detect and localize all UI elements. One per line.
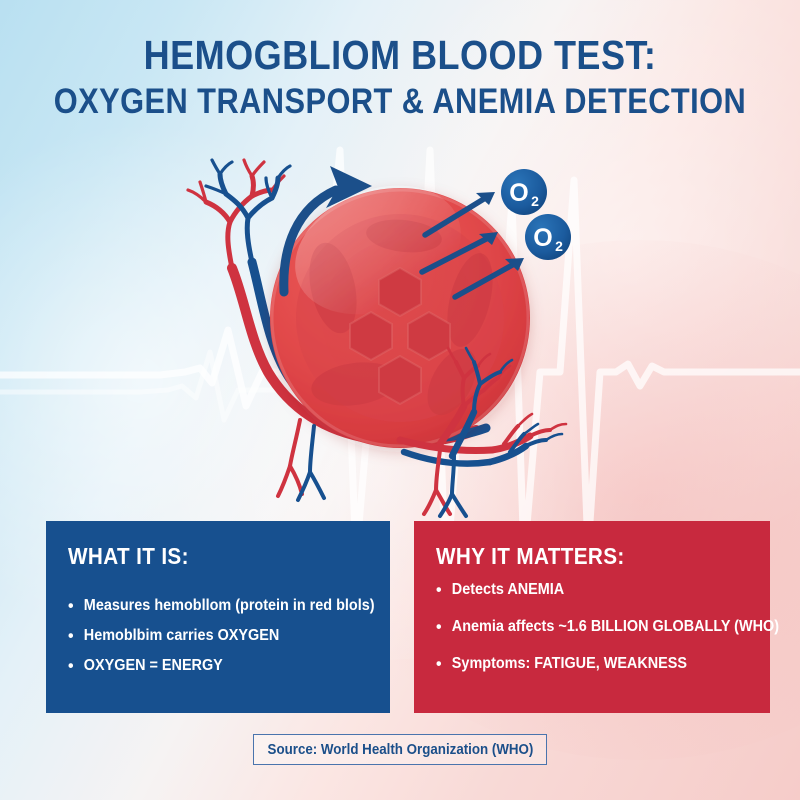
oxygen-molecule-1: O 2	[501, 169, 547, 215]
card-what-it-is-bullets: Measures hemobllom (protein in red blols…	[68, 596, 370, 677]
oxygen-label-2: O	[533, 224, 552, 252]
oxygen-subscript-1: 2	[531, 193, 539, 209]
list-item: Anemia affects ~1.6 BILLION GLOBALLY (WH…	[436, 617, 728, 638]
card-why-it-matters-heading: WHY IT MATTERS:	[436, 543, 719, 570]
title-line-1: HEMOGBLIOM BLOOD TEST:	[48, 34, 752, 77]
source-citation-text: Source: World Health Organization (WHO)	[267, 742, 533, 758]
list-item: Symptoms: FATIGUE, WEAKNESS	[436, 654, 728, 675]
poster-title: HEMOGBLIOM BLOOD TEST: OXYGEN TRANSPORT …	[0, 34, 800, 121]
card-why-it-matters: WHY IT MATTERS: Detects ANEMIA Anemia af…	[414, 521, 770, 713]
oxygen-label-1: O	[509, 179, 528, 207]
card-what-it-is-heading: WHAT IT IS:	[68, 543, 340, 570]
oxygen-subscript-2: 2	[555, 238, 563, 254]
oxygen-molecule-2: O 2	[525, 214, 571, 260]
source-citation-box: Source: World Health Organization (WHO)	[253, 734, 547, 765]
list-item: Hemoblbim carries OXYGEN	[68, 626, 349, 647]
list-item: OXYGEN = ENERGY	[68, 656, 349, 677]
card-why-it-matters-bullets: Detects ANEMIA Anemia affects ~1.6 BILLI…	[436, 580, 750, 675]
list-item: Detects ANEMIA	[436, 580, 728, 601]
title-line-2: OXYGEN TRANSPORT & ANEMIA DETECTION	[48, 84, 752, 121]
infographic-poster: HEMOGBLIOM BLOOD TEST: OXYGEN TRANSPORT …	[0, 0, 800, 800]
list-item: Measures hemobllom (protein in red blols…	[68, 596, 349, 617]
card-what-it-is: WHAT IT IS: Measures hemobllom (protein …	[46, 521, 390, 713]
